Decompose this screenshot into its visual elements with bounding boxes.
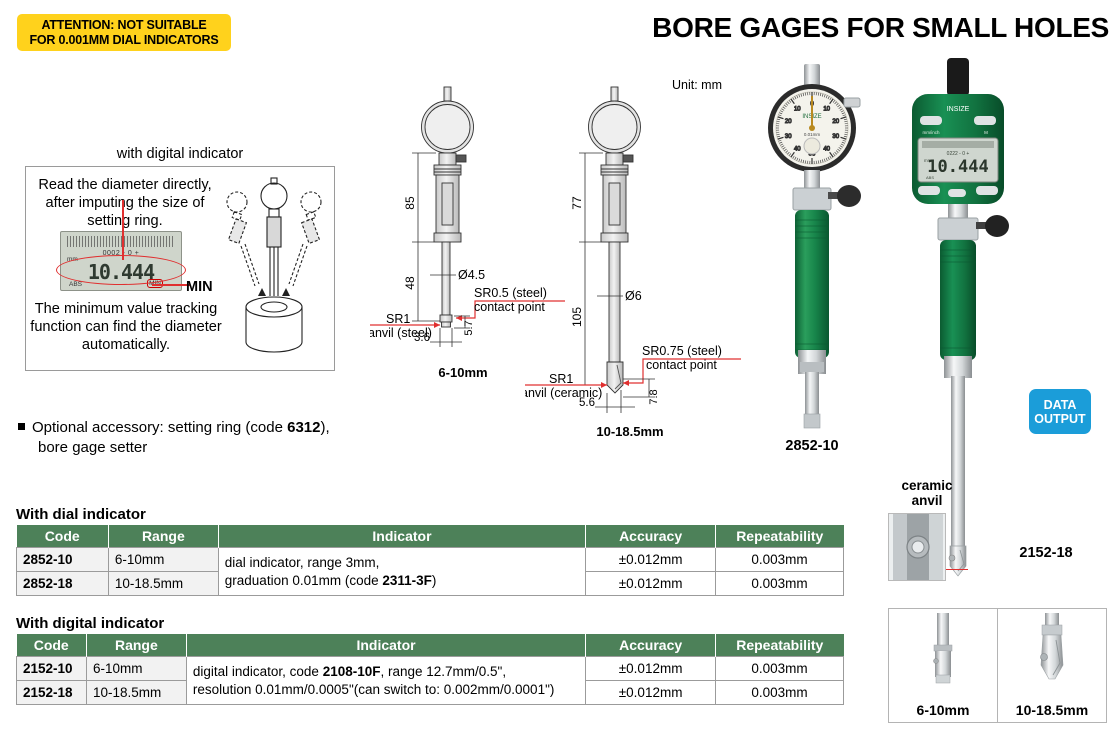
svg-text:30: 30 [785,134,792,140]
cell-repeatability: 0.003mm [716,572,844,596]
tip-photo-6-10mm [923,613,963,695]
product-photo-dial-bore-gage: 0102030405040302010 INSIZE 0.01mm [752,62,872,437]
table-row: 2152-10 6-10mm digital indicator, code 2… [17,657,844,681]
data-output-line-1: DATA [1044,398,1077,412]
svg-text:40: 40 [823,147,830,153]
dim-48: 48 [403,276,417,290]
bullet-square-icon [18,423,25,430]
tip-detail-left-caption: 6-10mm [917,702,970,718]
digital-brand: INSIZE [947,106,970,113]
cell-repeatability: 0.003mm [716,657,844,681]
dim-7-8: 7.8 [648,389,660,404]
svg-text:M: M [984,130,988,135]
cell-range: 6-10mm [108,548,218,572]
table-row: 2852-10 6-10mm dial indicator, range 3mm… [17,548,844,572]
label-contact-point-2: contact point [646,358,717,372]
cell-indicator: digital indicator, code 2108-10F, range … [186,657,585,705]
th-repeatability: Repeatability [716,634,844,657]
tip-photo-10-18-5mm [1029,613,1075,695]
th-indicator: Indicator [186,634,585,657]
indicator-line-1: digital indicator, code 2108-10F, range … [193,663,579,681]
ceramic-anvil-label: ceramic anvil [888,478,966,508]
indicator-line-1-a: digital indicator, code [193,664,323,679]
svg-text:20: 20 [832,119,839,125]
lcd-abs-indicator: ABS [69,281,82,288]
drawing-2-caption: 10-18.5mm [555,424,705,439]
th-accuracy: Accuracy [586,525,716,548]
table-header-row: Code Range Indicator Accuracy Repeatabil… [17,634,844,657]
th-repeatability: Repeatability [716,525,844,548]
indicator-line-2-c: ) [432,573,437,588]
cell-code: 2152-18 [17,681,87,705]
ceramic-anvil-pointer-line [946,569,968,570]
attention-line-1: ATTENTION: NOT SUITABLE [41,18,206,33]
dim-5-6: 5.6 [579,397,595,409]
cell-range: 6-10mm [86,657,186,681]
th-range: Range [86,634,186,657]
page-title: BORE GAGES FOR SMALL HOLES [652,12,1109,44]
svg-text:40: 40 [794,147,801,153]
min-label: MIN [186,279,213,295]
table-2-title: With digital indicator [16,615,164,632]
tip-detail-right-caption: 10-18.5mm [1016,702,1088,718]
th-code: Code [17,634,87,657]
dial-indicator-spec-table: Code Range Indicator Accuracy Repeatabil… [16,525,844,596]
cell-indicator: dial indicator, range 3mm, graduation 0.… [218,548,585,596]
table-header-row: Code Range Indicator Accuracy Repeatabil… [17,525,844,548]
ceramic-anvil-line-2: anvil [888,493,966,508]
label-sr075-steel: SR0.75 (steel) [642,344,722,358]
dim-5-7: 5.7 [463,320,475,335]
cell-code: 2852-10 [17,548,109,572]
tip-detail-right: 10-18.5mm [997,609,1106,722]
svg-text:20: 20 [785,119,792,125]
svg-text:10: 10 [823,106,830,112]
digital-indicator-spec-table: Code Range Indicator Accuracy Repeatabil… [16,634,844,705]
th-indicator: Indicator [218,525,585,548]
accessory-text-prefix: Optional accessory: setting ring (code [32,419,287,436]
indicator-code: 2108-10F [323,664,381,679]
technical-drawing-10-18-5mm: 77 105 Ø6 SR0.75 (steel) contact point S… [525,85,755,425]
table-1-title: With dial indicator [16,506,146,523]
tip-detail-photos: 6-10mm 10-18.5mm [888,608,1107,723]
cell-accuracy: ±0.012mm [586,681,716,705]
label-sr1-1: SR1 [386,312,410,326]
ceramic-anvil-line-1: ceramic [888,478,966,493]
unit-note: Unit: mm [672,78,722,92]
dim-105: 105 [570,307,584,327]
accessory-text-suffix: ), [321,419,330,436]
label-sr1-2: SR1 [549,372,573,386]
panel-description-bottom: The minimum value tracking function can … [28,300,224,354]
indicator-line-1: dial indicator, range 3mm, [225,554,579,572]
attention-badge: ATTENTION: NOT SUITABLE FOR 0.001MM DIAL… [17,14,231,51]
cell-accuracy: ±0.012mm [586,548,716,572]
svg-text:10: 10 [794,106,801,112]
dial-gage-model-label: 2852-10 [742,438,882,454]
bore-gage-measuring-illustration [215,176,333,364]
svg-text:0.01mm: 0.01mm [804,132,821,137]
dim-77: 77 [570,196,584,210]
accessory-code: 6312 [287,419,320,436]
indicator-line-2-a: graduation 0.01mm (code [225,573,383,588]
indicator-code: 2311-3F [382,573,432,588]
cell-repeatability: 0.003mm [716,548,844,572]
digital-indicator-panel-caption: with digital indicator [25,146,335,162]
cell-code: 2152-10 [17,657,87,681]
svg-text:30: 30 [832,134,839,140]
lcd-analog-bar [67,236,175,247]
lcd-value-highlight-ellipse [56,255,186,285]
callout-line-min [152,284,190,286]
panel-description-top: Read the diameter directly, after imputi… [30,176,220,230]
dim-diameter-6: Ø6 [625,289,642,303]
data-output-line-2: OUTPUT [1034,412,1085,426]
indicator-line-1-c: , range 12.7mm/0.5", [380,664,506,679]
cell-range: 10-18.5mm [86,681,186,705]
drawing-1-caption: 6-10mm [398,365,528,380]
optional-accessory-note: Optional accessory: setting ring (code 6… [18,418,418,458]
dim-diameter-4-5: Ø4.5 [458,268,485,282]
cell-repeatability: 0.003mm [716,681,844,705]
cell-accuracy: ±0.012mm [586,572,716,596]
digital-gage-model-label: 2152-18 [1000,545,1092,561]
dim-85: 85 [403,196,417,210]
ceramic-anvil-inset-photo [888,513,946,581]
th-range: Range [108,525,218,548]
digital-lcd-value: 10.444 [927,157,988,177]
th-code: Code [17,525,109,548]
cell-accuracy: ±0.012mm [586,657,716,681]
cell-range: 10-18.5mm [108,572,218,596]
attention-line-2: FOR 0.001MM DIAL INDICATORS [29,33,218,48]
callout-line-vertical [122,200,124,260]
th-accuracy: Accuracy [586,634,716,657]
svg-text:mm/inch: mm/inch [922,130,939,135]
svg-text:ABS: ABS [926,175,934,180]
data-output-badge: DATA OUTPUT [1029,389,1091,434]
indicator-line-2: graduation 0.01mm (code 2311-3F) [225,572,579,590]
dim-3-6: 3.6 [414,332,430,344]
accessory-text-line2: bore gage setter [38,438,418,458]
tip-detail-left: 6-10mm [889,609,997,722]
cell-code: 2852-18 [17,572,109,596]
indicator-line-2: resolution 0.01mm/0.0005"(can switch to:… [193,681,579,699]
